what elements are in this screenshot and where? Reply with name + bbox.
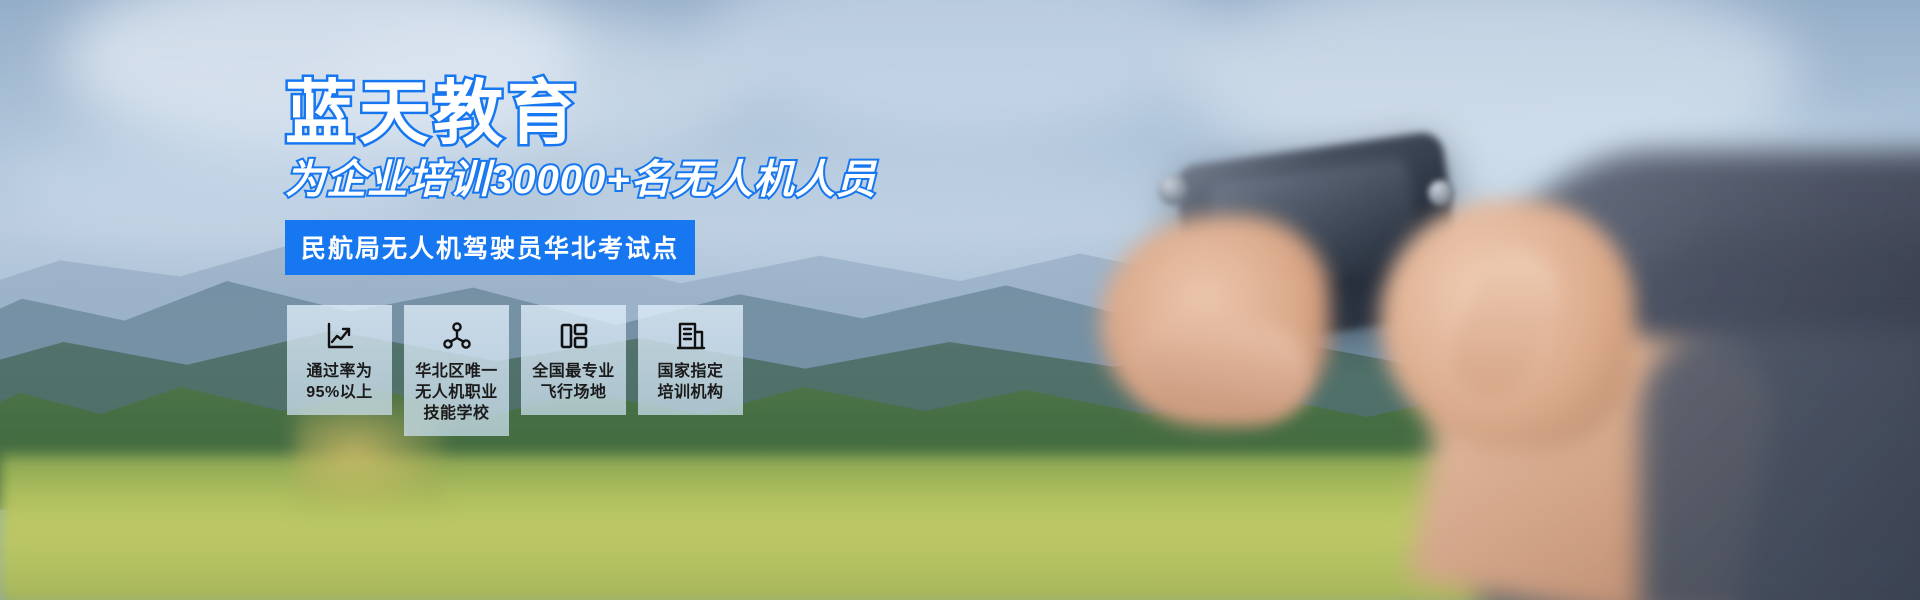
layout-panels-icon <box>558 319 590 353</box>
feature-card-label: 通过率为 95%以上 <box>306 361 373 403</box>
feature-card-only-school[interactable]: 华北区唯一 无人机职业 技能学校 <box>404 305 509 436</box>
network-nodes-icon <box>441 319 473 353</box>
certification-badge: 民航局无人机驾驶员华北考试点 <box>285 220 695 275</box>
feature-card-label: 全国最专业 飞行场地 <box>532 361 615 403</box>
banner-subtitle: 为企业培训30000+名无人机人员 <box>285 160 877 200</box>
feature-card-flight-field[interactable]: 全国最专业 飞行场地 <box>521 305 626 415</box>
building-icon <box>675 319 707 353</box>
feature-card-list: 通过率为 95%以上 华北区唯一 无人机职业 技能学校 <box>287 305 743 436</box>
banner-content: 蓝天教育 为企业培训30000+名无人机人员 民航局无人机驾驶员华北考试点 通过… <box>0 0 1920 600</box>
hero-banner: 蓝天教育 为企业培训30000+名无人机人员 民航局无人机驾驶员华北考试点 通过… <box>0 0 1920 600</box>
feature-card-label: 华北区唯一 无人机职业 技能学校 <box>415 361 498 424</box>
feature-card-label: 国家指定 培训机构 <box>657 361 723 403</box>
feature-card-pass-rate[interactable]: 通过率为 95%以上 <box>287 305 392 415</box>
trending-up-chart-icon <box>324 319 356 353</box>
feature-card-national-institution[interactable]: 国家指定 培训机构 <box>638 305 743 415</box>
banner-title: 蓝天教育 <box>285 78 581 148</box>
